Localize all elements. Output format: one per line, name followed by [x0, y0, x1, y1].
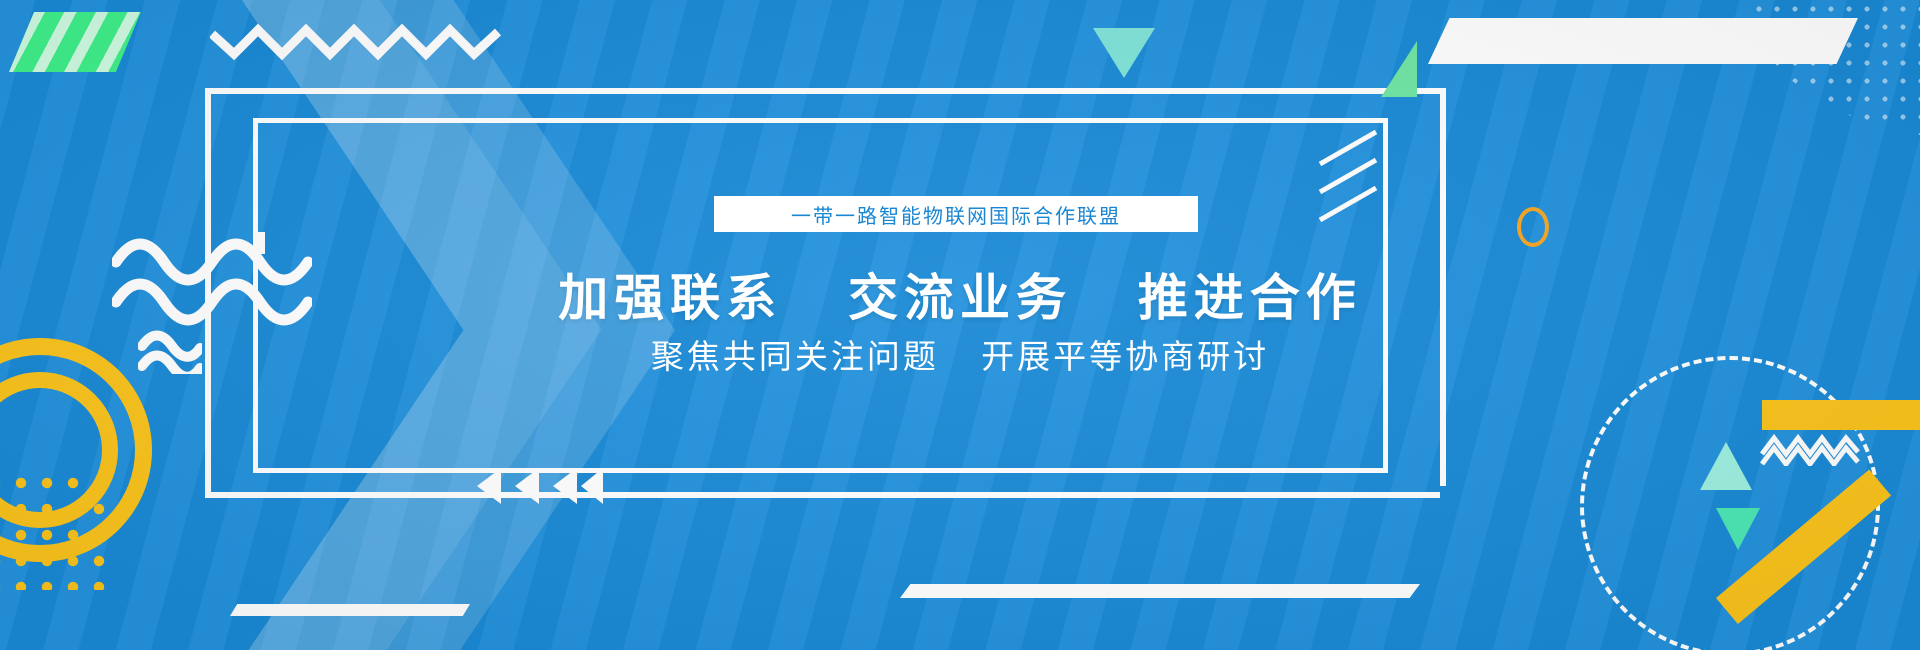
zigzag-top-icon — [210, 22, 510, 62]
left-chevrons-icon — [463, 468, 603, 504]
organization-label-text: 一带一路智能物联网国际合作联盟 — [791, 200, 1121, 229]
headline: 加强联系 交流业务 推进合作 — [0, 258, 1920, 330]
headline-part-3: 推进合作 — [1138, 270, 1362, 326]
dot-pattern — [0, 470, 112, 590]
yellow-bar-horizontal — [1762, 400, 1920, 430]
organization-label: 一带一路智能物联网国际合作联盟 — [714, 196, 1198, 232]
subheadline-part-2: 开展平等协商研讨 — [981, 338, 1269, 375]
teal-triangle-down-icon — [1093, 28, 1155, 78]
orange-ring-icon — [1517, 207, 1549, 247]
headline-part-1: 加强联系 — [558, 270, 782, 326]
white-parallelogram-bottom — [900, 584, 1420, 598]
diagonal-lines-right-icon — [1316, 130, 1382, 230]
promo-banner: 一带一路智能物联网国际合作联盟 加强联系 交流业务 推进合作 聚焦共同关注问题 … — [0, 0, 1920, 650]
headline-part-2: 交流业务 — [848, 270, 1072, 326]
green-corner-triangle — [1381, 41, 1417, 97]
dotted-quarter-circle — [1750, 0, 1920, 140]
dot-pattern — [1750, 0, 1920, 140]
trapezoid-stripes — [9, 12, 141, 72]
zigzag-bottom-right-icon — [1760, 432, 1860, 466]
subheadline: 聚焦共同关注问题 开展平等协商研讨 — [0, 330, 1920, 378]
yellow-dot-cluster — [0, 452, 126, 650]
subheadline-part-1: 聚焦共同关注问题 — [651, 338, 939, 375]
yellow-dot-grid — [0, 470, 112, 590]
green-striped-trapezoid — [9, 12, 141, 72]
white-parallelogram-bottom-left — [230, 604, 470, 616]
